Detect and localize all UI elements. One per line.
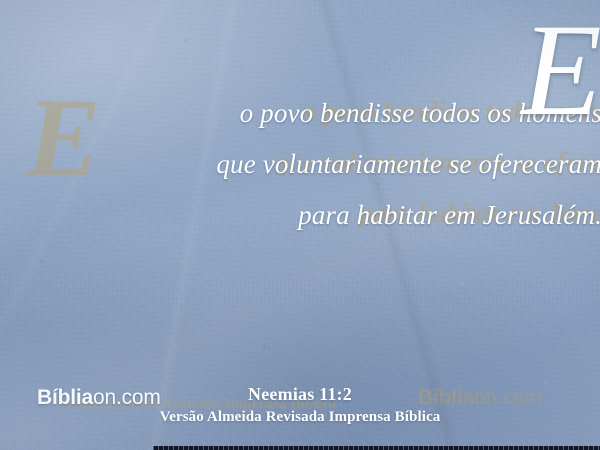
- verse-line-1: E o povo bendisse todos os homens: [0, 88, 600, 139]
- bible-version-label: Versão Almeida Revisada Imprensa Bíblica: [0, 407, 600, 428]
- verse-card: E o povo bendisse todos os homens que vo…: [0, 0, 600, 450]
- verse-line-2: que voluntariamente se ofereceram: [0, 139, 600, 190]
- bottom-dashed-strip: [153, 446, 600, 450]
- verse-reference-block: Neemias 11:2 Versão Almeida Revisada Imp…: [0, 383, 600, 428]
- verse-line-3: para habitar em Jerusalém.: [0, 190, 600, 241]
- verse-text: E o povo bendisse todos os homens que vo…: [0, 88, 600, 241]
- verse-dropcap: E: [521, 4, 600, 136]
- verse-citation: Neemias 11:2: [0, 383, 600, 406]
